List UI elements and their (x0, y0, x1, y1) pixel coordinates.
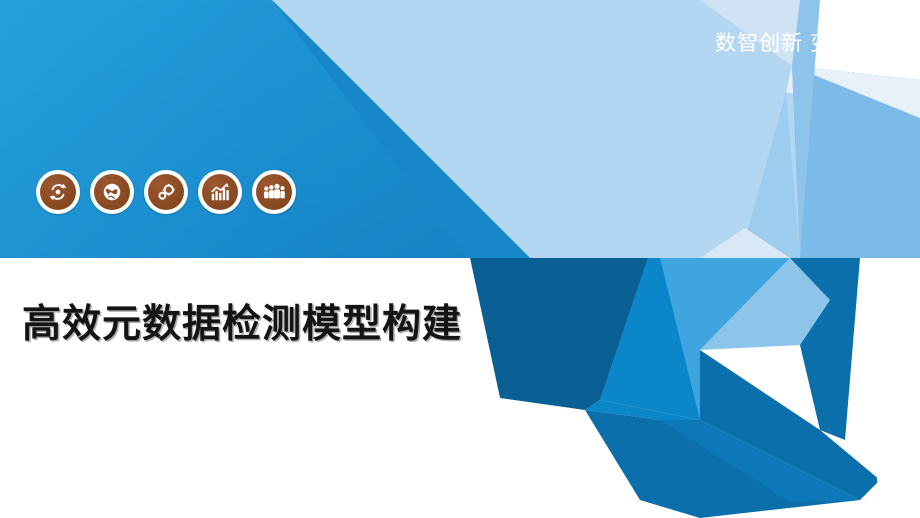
icon-badge-people[interactable] (252, 170, 296, 214)
icon-badge-bar-chart[interactable] (198, 170, 242, 214)
icon-strip (36, 170, 296, 214)
gears-icon (148, 174, 184, 210)
bar-chart-icon (202, 174, 238, 210)
background-geometry (0, 0, 920, 518)
page-title: 高效元数据检测模型构建 (22, 293, 462, 349)
slide-tagline: 数智创新 变革未来 (715, 27, 898, 57)
icon-badge-gears[interactable] (144, 170, 188, 214)
globe-icon (94, 174, 130, 210)
icon-badge-globe[interactable] (90, 170, 134, 214)
presentation-slide: 数智创新 变革未来 (0, 0, 920, 518)
people-group-icon (256, 174, 292, 210)
icon-badge-recycle[interactable] (36, 170, 80, 214)
recycle-arrows-icon (40, 174, 76, 210)
